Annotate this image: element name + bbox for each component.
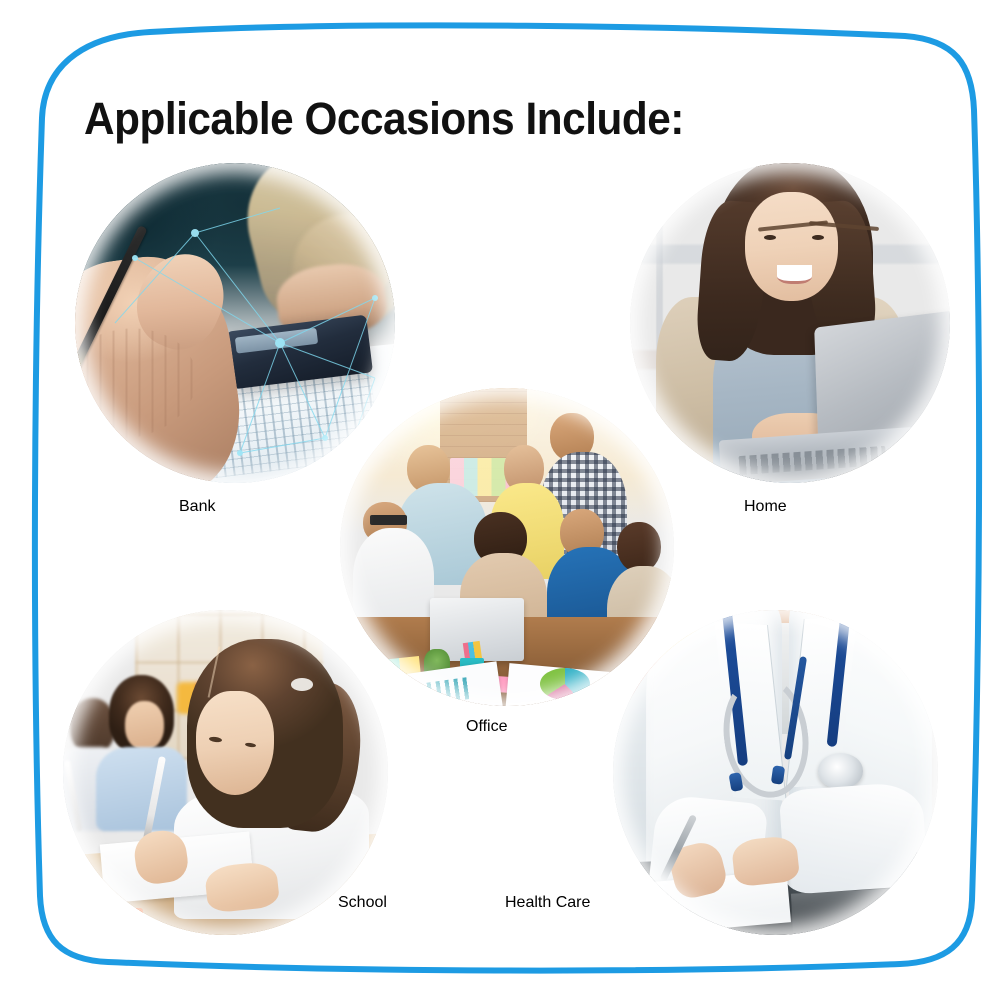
office-photo	[340, 388, 674, 706]
occasion-label-home: Home	[744, 498, 787, 516]
occasion-label-health-care: Health Care	[505, 894, 590, 912]
occasion-card-home[interactable]	[630, 163, 950, 483]
applicable-occasions-panel: Applicable Occasions Include:	[0, 0, 1000, 1000]
occasion-card-office[interactable]	[340, 388, 674, 706]
page-title: Applicable Occasions Include:	[84, 93, 684, 145]
home-photo	[630, 163, 950, 483]
occasion-label-office: Office	[466, 718, 508, 736]
occasion-label-bank: Bank	[179, 498, 215, 516]
